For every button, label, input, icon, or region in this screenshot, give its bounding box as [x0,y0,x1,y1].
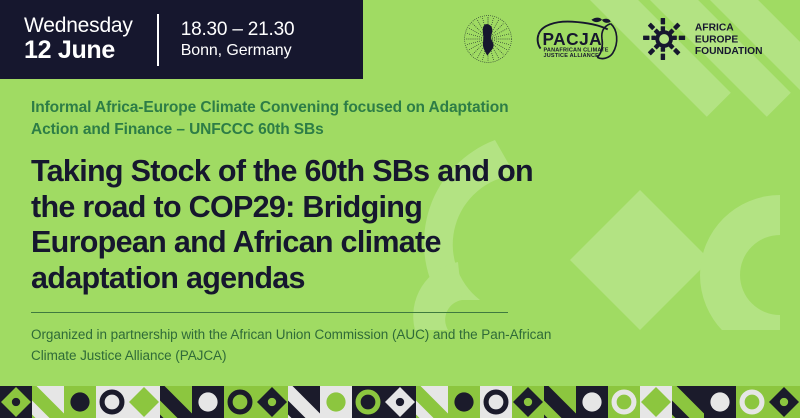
pattern-tile [448,386,480,418]
event-time: 18.30 – 21.30 [181,18,295,41]
pattern-tile [768,386,800,418]
partner-logos: PACJA PANAFRICAN CLIMATE JUSTICE ALLIANC… [462,10,784,68]
event-date: Wednesday 12 June [24,15,133,65]
pattern-tile [704,386,736,418]
header-vertical-divider [157,14,159,66]
pattern-tile [256,386,288,418]
svg-text:JUSTICE ALLIANCE: JUSTICE ALLIANCE [543,53,599,59]
decorative-pattern-strip [0,386,800,418]
pattern-tile [192,386,224,418]
pattern-tile [576,386,608,418]
svg-text:FOUNDATION: FOUNDATION [695,46,763,57]
organizers-note: Organized in partnership with the Africa… [31,325,571,367]
pattern-tile [0,386,32,418]
event-header-bar: Wednesday 12 June 18.30 – 21.30 Bonn, Ge… [0,0,363,79]
pattern-tile [224,386,256,418]
pattern-tile [96,386,128,418]
pattern-tile [736,386,768,418]
event-title: Taking Stock of the 60th SBs and on the … [31,154,561,297]
content-divider [31,312,508,313]
african-union-logo [462,13,514,65]
pattern-tile [512,386,544,418]
pattern-tile [352,386,384,418]
pattern-tile [608,386,640,418]
pattern-tile [320,386,352,418]
event-day: 12 June [24,37,133,64]
svg-text:AFRICA: AFRICA [695,23,734,34]
pacja-logo: PACJA PANAFRICAN CLIMATE JUSTICE ALLIANC… [530,14,626,64]
event-location: Bonn, Germany [181,41,295,61]
event-subtitle: Informal Africa-Europe Climate Convening… [31,97,551,142]
pattern-tile [64,386,96,418]
svg-text:PACJA: PACJA [542,29,602,49]
pattern-tile [128,386,160,418]
banner-content: Informal Africa-Europe Climate Convening… [31,97,591,297]
pattern-tile [640,386,672,418]
event-venue: 18.30 – 21.30 Bonn, Germany [181,18,295,61]
svg-text:PANAFRICAN CLIMATE: PANAFRICAN CLIMATE [543,47,608,53]
svg-text:EUROPE: EUROPE [695,34,738,45]
pattern-tile [480,386,512,418]
pattern-tile [384,386,416,418]
event-weekday: Wednesday [24,15,133,38]
africa-europe-foundation-logo: AFRICA EUROPE FOUNDATION [642,17,784,61]
event-banner: Wednesday 12 June 18.30 – 21.30 Bonn, Ge… [0,0,800,418]
